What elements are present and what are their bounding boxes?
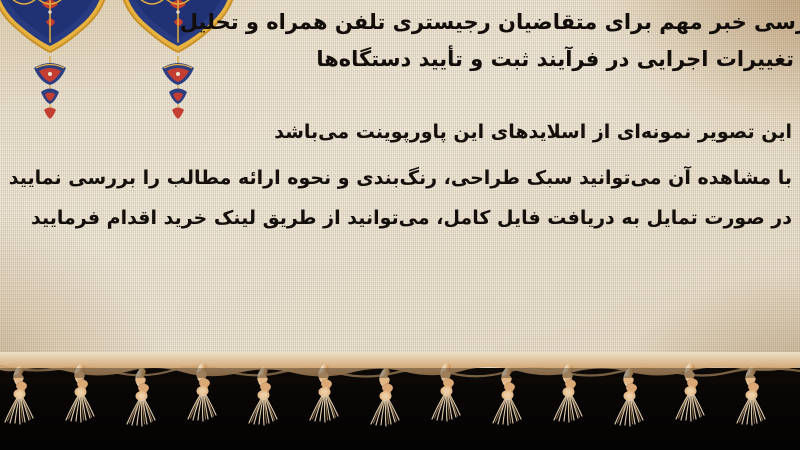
body-line-3: در صورت تمایل به دریافت فایل کامل، می‌تو… xyxy=(0,198,792,238)
slide-text-layer: رسی خبر مهم برای متقاضیان رجیستری تلفن ه… xyxy=(0,0,800,450)
slide-title: رسی خبر مهم برای متقاضیان رجیستری تلفن ه… xyxy=(0,4,794,78)
slide-body: این تصویر نمونه‌ای از اسلایدهای این پاور… xyxy=(0,112,792,238)
slide-canvas: رسی خبر مهم برای متقاضیان رجیستری تلفن ه… xyxy=(0,0,800,450)
title-line-1: رسی خبر مهم برای متقاضیان رجیستری تلفن ه… xyxy=(0,4,800,41)
body-line-1: این تصویر نمونه‌ای از اسلایدهای این پاور… xyxy=(0,112,792,152)
title-line-2: تغییرات اجرایی در فرآیند ثبت و تأیید دست… xyxy=(0,41,794,78)
body-line-2: با مشاهده آن می‌توانید سبک طراحی، رنگ‌بن… xyxy=(0,158,792,198)
